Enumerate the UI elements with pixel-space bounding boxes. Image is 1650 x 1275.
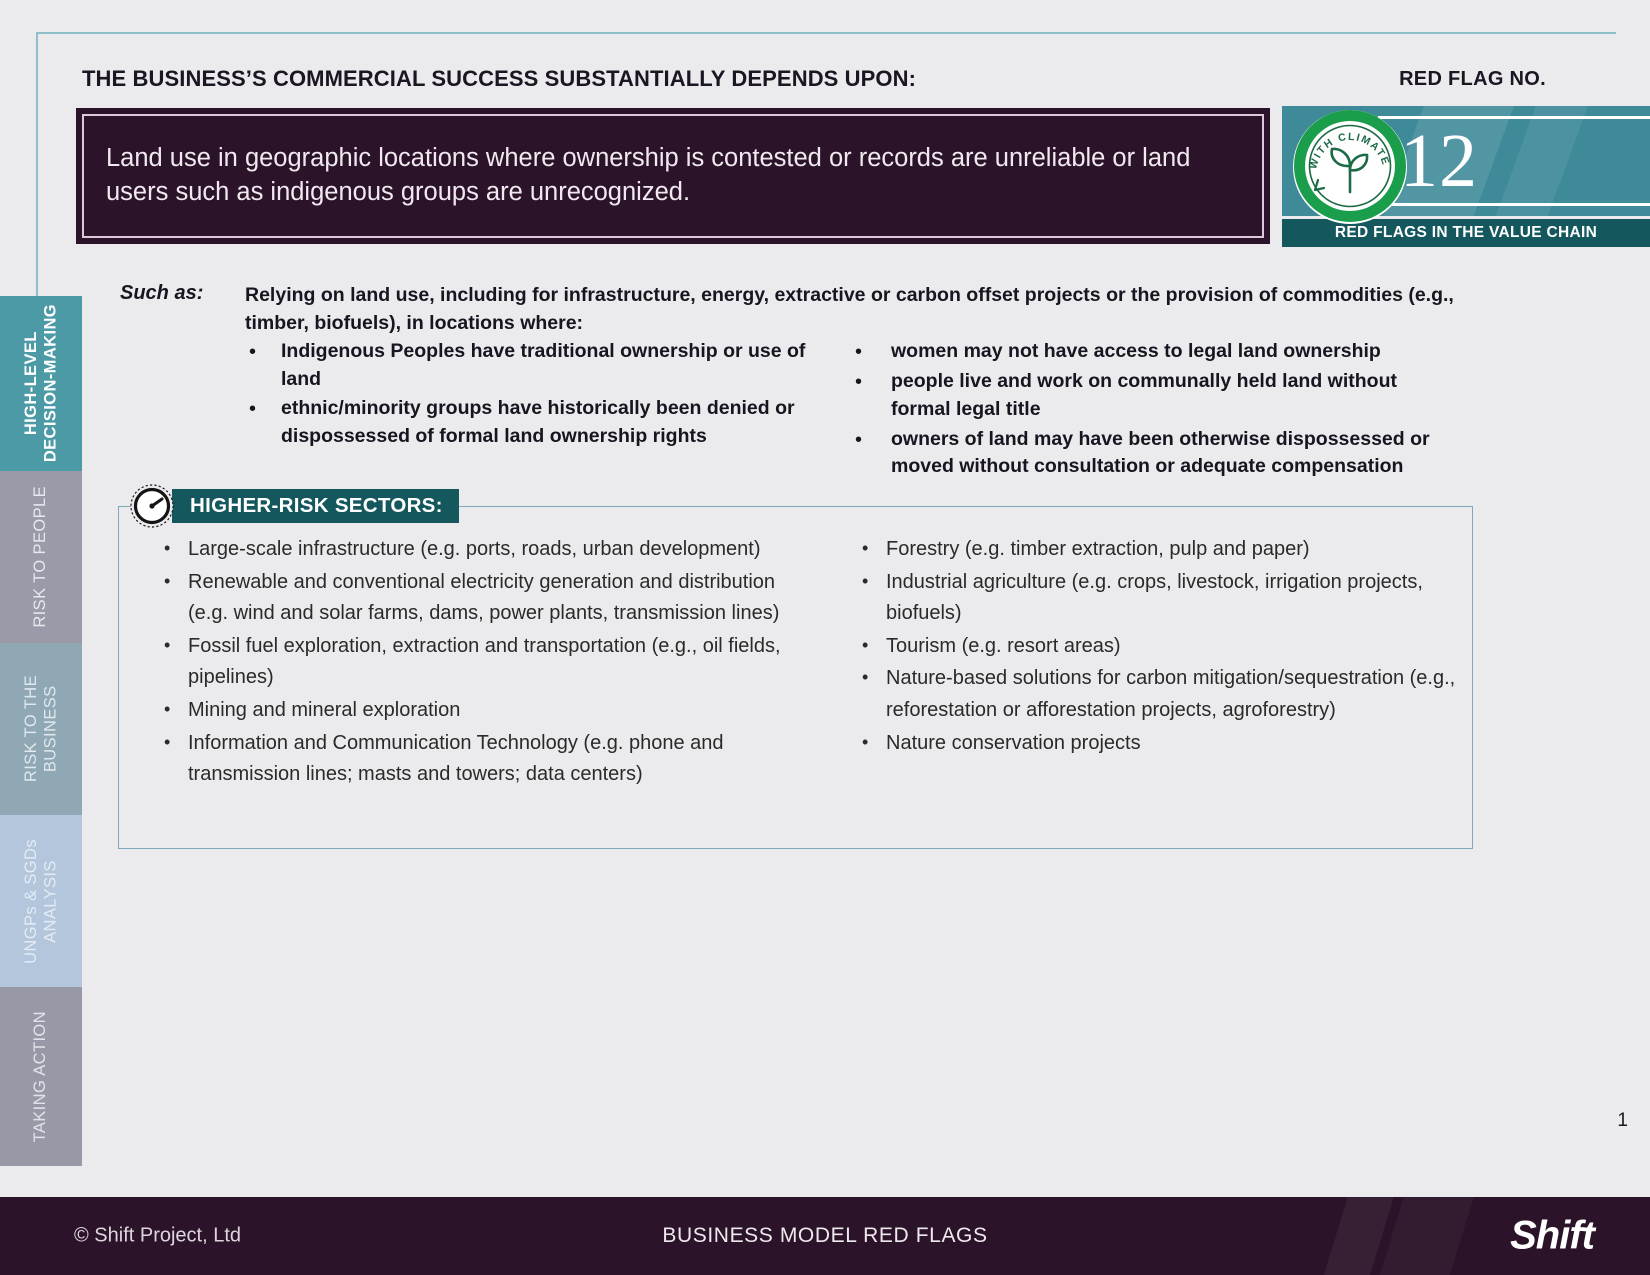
bullet-glyph: • xyxy=(848,631,886,663)
red-flag-statement-text: Land use in geographic locations where o… xyxy=(106,142,1240,210)
bullet-glyph: • xyxy=(150,695,188,727)
bullet-glyph: • xyxy=(245,395,281,450)
list-item-text: owners of land may have been otherwise d… xyxy=(891,426,1460,481)
such-as-label: Such as: xyxy=(120,282,203,305)
such-as-right-column: • women may not have access to legal lan… xyxy=(855,338,1460,483)
sidebar-item-taking-action[interactable]: TAKING ACTION xyxy=(0,987,82,1166)
list-item: • Nature conservation projects xyxy=(848,728,1470,760)
list-item: • Fossil fuel exploration, extraction an… xyxy=(150,631,810,694)
higher-risk-sectors-heading-label: HIGHER-RISK SECTORS: xyxy=(190,494,443,518)
list-item-text: Renewable and conventional electricity g… xyxy=(188,567,810,630)
sidebar-item-label: UNGPs & SGDs ANALYSIS xyxy=(22,839,61,964)
sidebar-item-label: RISK TO PEOPLE xyxy=(31,486,50,628)
slide-page: HIGH-LEVEL DECISION-MAKING RISK TO PEOPL… xyxy=(0,0,1650,1275)
sidebar-item-high-level-decision-making[interactable]: HIGH-LEVEL DECISION-MAKING xyxy=(0,296,82,471)
bullet-glyph: • xyxy=(848,534,886,566)
higher-risk-sectors-heading: HIGHER-RISK SECTORS: xyxy=(172,489,459,523)
bullet-glyph: • xyxy=(855,426,891,481)
list-item-text: Tourism (e.g. resort areas) xyxy=(886,631,1470,663)
bullet-glyph: • xyxy=(855,368,891,423)
bullet-glyph: • xyxy=(150,631,188,694)
list-item: • Indigenous Peoples have traditional ow… xyxy=(245,338,835,393)
list-item: • Mining and mineral exploration xyxy=(150,695,810,727)
bullet-glyph: • xyxy=(848,567,886,630)
list-item-text: Indigenous Peoples have traditional owne… xyxy=(281,338,835,393)
bullet-glyph: • xyxy=(245,338,281,393)
page-footer: © Shift Project, Ltd BUSINESS MODEL RED … xyxy=(0,1197,1650,1275)
list-item: • Forestry (e.g. timber extraction, pulp… xyxy=(848,534,1470,566)
list-item-text: women may not have access to legal land … xyxy=(891,338,1460,366)
sidebar-item-ungps-sgds-analysis[interactable]: UNGPs & SGDs ANALYSIS xyxy=(0,815,82,987)
footer-document-title: BUSINESS MODEL RED FLAGS xyxy=(0,1224,1650,1248)
bullet-glyph: • xyxy=(848,728,886,760)
list-item-text: Nature-based solutions for carbon mitiga… xyxy=(886,663,1470,726)
sectors-right-column: • Forestry (e.g. timber extraction, pulp… xyxy=(810,534,1470,792)
such-as-intro: Relying on land use, including for infra… xyxy=(245,282,1455,337)
list-item-text: Fossil fuel exploration, extraction and … xyxy=(188,631,810,694)
list-item: • Large-scale infrastructure (e.g. ports… xyxy=(150,534,810,566)
bullet-glyph: • xyxy=(150,728,188,791)
sidebar-item-label: RISK TO THE BUSINESS xyxy=(22,675,61,782)
list-item: • ethnic/minority groups have historical… xyxy=(245,395,835,450)
bullet-glyph: • xyxy=(150,534,188,566)
list-item-text: Nature conservation projects xyxy=(886,728,1470,760)
list-item-text: people live and work on communally held … xyxy=(891,368,1460,423)
page-number: 1 xyxy=(1617,1110,1628,1132)
list-item: • people live and work on communally hel… xyxy=(855,368,1460,423)
gauge-icon xyxy=(130,484,174,528)
red-flag-statement-inner-border: Land use in geographic locations where o… xyxy=(82,114,1264,238)
higher-risk-sectors-columns: • Large-scale infrastructure (e.g. ports… xyxy=(150,534,1480,792)
sidebar-item-label: HIGH-LEVEL DECISION-MAKING xyxy=(22,304,61,462)
list-item: • owners of land may have been otherwise… xyxy=(855,426,1460,481)
sectors-left-column: • Large-scale infrastructure (e.g. ports… xyxy=(150,534,810,792)
sidebar-item-label: TAKING ACTION xyxy=(31,1011,50,1142)
bullet-glyph: • xyxy=(855,338,891,366)
list-item: • Information and Communication Technolo… xyxy=(150,728,810,791)
bullet-glyph: • xyxy=(150,567,188,630)
such-as-bullet-columns: • Indigenous Peoples have traditional ow… xyxy=(245,338,1460,483)
list-item: • Tourism (e.g. resort areas) xyxy=(848,631,1470,663)
red-flag-statement-box: Land use in geographic locations where o… xyxy=(76,108,1270,244)
sidebar-item-risk-to-people[interactable]: RISK TO PEOPLE xyxy=(0,471,82,643)
list-item-text: Mining and mineral exploration xyxy=(188,695,810,727)
red-flag-no-label: RED FLAG NO. xyxy=(1399,68,1546,91)
list-item-text: Industrial agriculture (e.g. crops, live… xyxy=(886,567,1470,630)
with-climate-lens-seal-icon: WITH CLIMATE LENS xyxy=(1288,104,1412,228)
page-title: THE BUSINESS’S COMMERCIAL SUCCESS SUBSTA… xyxy=(82,66,916,92)
section-nav-rail: HIGH-LEVEL DECISION-MAKING RISK TO PEOPL… xyxy=(0,296,82,1166)
list-item-text: ethnic/minority groups have historically… xyxy=(281,395,835,450)
such-as-left-column: • Indigenous Peoples have traditional ow… xyxy=(245,338,835,483)
bullet-glyph: • xyxy=(848,663,886,726)
list-item: • Industrial agriculture (e.g. crops, li… xyxy=(848,567,1470,630)
banner-rule-bottom xyxy=(1378,203,1650,206)
list-item-text: Information and Communication Technology… xyxy=(188,728,810,791)
list-item-text: Forestry (e.g. timber extraction, pulp a… xyxy=(886,534,1470,566)
list-item-text: Large-scale infrastructure (e.g. ports, … xyxy=(188,534,810,566)
list-item: • Renewable and conventional electricity… xyxy=(150,567,810,630)
list-item: • women may not have access to legal lan… xyxy=(855,338,1460,366)
sidebar-item-risk-to-the-business[interactable]: RISK TO THE BUSINESS xyxy=(0,643,82,815)
shift-logo: Shift xyxy=(1510,1214,1594,1259)
list-item: • Nature-based solutions for carbon miti… xyxy=(848,663,1470,726)
